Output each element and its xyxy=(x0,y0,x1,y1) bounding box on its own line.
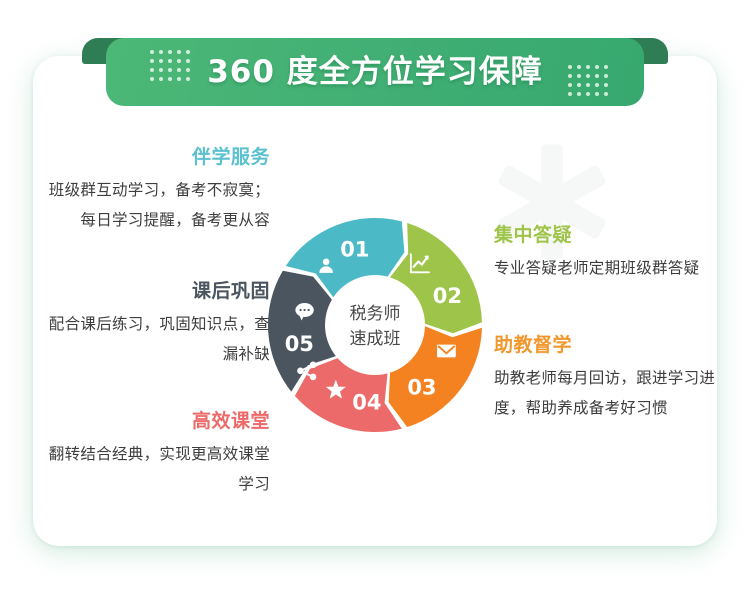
feature-block-companion-study: 伴学服务 班级群互动学习，备考不寂寞；每日学习提醒，备考更从容 xyxy=(42,144,270,235)
feature-body: 翻转结合经典，实现更高效课堂学习 xyxy=(42,439,270,499)
feature-block-group-qa: 集中答疑 专业答疑老师定期班级群答疑 xyxy=(494,222,716,283)
segment-number: 01 xyxy=(340,238,369,262)
segment-number: 04 xyxy=(352,391,381,415)
header-ribbon: 360 度全方位学习保障 xyxy=(82,24,668,106)
center-label-line2: 速成班 xyxy=(350,329,401,349)
feature-block-after-class-review: 课后巩固 配合课后练习，巩固知识点，查漏补缺 xyxy=(42,278,270,369)
feature-body: 专业答疑老师定期班级群答疑 xyxy=(494,253,716,283)
feature-heading: 集中答疑 xyxy=(494,222,716,248)
center-label-line1: 税务师 xyxy=(350,304,401,324)
feature-body: 配合课后练习，巩固知识点，查漏补缺 xyxy=(42,309,270,369)
segment-number: 05 xyxy=(285,332,314,356)
feature-block-efficient-classroom: 高效课堂 翻转结合经典，实现更高效课堂学习 xyxy=(42,408,270,499)
envelope-icon xyxy=(437,345,456,358)
feature-block-teaching-assistant: 助教督学 助教老师每月回访，跟进学习进度，帮助养成备考好习惯 xyxy=(494,332,716,423)
wheel-center-disc xyxy=(330,280,420,370)
segment-number: 03 xyxy=(407,375,436,399)
segment-shape xyxy=(295,358,402,432)
wheel-segment-04[interactable]: 04 xyxy=(295,358,402,432)
feature-heading: 高效课堂 xyxy=(42,408,270,434)
ribbon-body: 360 度全方位学习保障 xyxy=(106,38,644,106)
feature-heading: 课后巩固 xyxy=(42,278,270,304)
feature-heading: 伴学服务 xyxy=(42,144,270,170)
feature-body: 助教老师每月回访，跟进学习进度，帮助养成备考好习惯 xyxy=(494,363,716,423)
segmented-wheel-diagram: 0102030405 税务师 速成班 xyxy=(268,218,482,432)
feature-body: 班级群互动学习，备考不寂寞；每日学习提醒，备考更从容 xyxy=(42,175,270,235)
poster-canvas: 360 度全方位学习保障 伴学服务 班级群互动学习，备考不寂寞；每日学习提醒，备… xyxy=(0,0,750,604)
segment-number: 02 xyxy=(433,284,462,308)
page-title: 360 度全方位学习保障 xyxy=(106,38,644,106)
feature-heading: 助教督学 xyxy=(494,332,716,358)
